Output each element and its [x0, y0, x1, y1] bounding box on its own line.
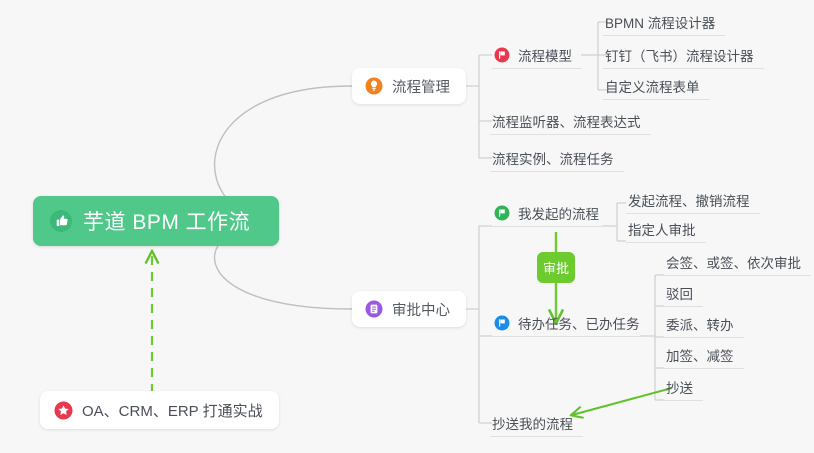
branch-approval-center-label: 审批中心: [392, 299, 450, 320]
node-assignee-approval[interactable]: 指定人审批: [626, 215, 706, 243]
document-circle-icon: [365, 300, 383, 318]
node-cc-label: 抄送: [666, 377, 693, 397]
node-process-instance-task[interactable]: 流程实例、流程任务: [490, 144, 624, 172]
node-process-model[interactable]: 流程模型: [492, 41, 582, 69]
node-countersign-types[interactable]: 会签、或签、依次审批: [664, 248, 811, 276]
node-cc-my-processes-label: 抄送我的流程: [492, 413, 573, 433]
annotation-integration-card[interactable]: OA、CRM、ERP 打通实战: [40, 391, 279, 429]
root-label: 芋道 BPM 工作流: [83, 206, 250, 236]
node-countersign-types-label: 会签、或签、依次审批: [666, 252, 801, 272]
flag-circle-icon: [494, 47, 510, 63]
node-process-model-label: 流程模型: [518, 45, 572, 65]
node-start-cancel-process[interactable]: 发起流程、撤销流程: [626, 186, 760, 214]
root-node[interactable]: 芋道 BPM 工作流: [33, 196, 279, 246]
node-cc-my-processes[interactable]: 抄送我的流程: [490, 409, 583, 437]
node-my-started-processes-label: 我发起的流程: [518, 203, 599, 223]
node-assignee-approval-label: 指定人审批: [628, 219, 696, 239]
node-process-listener-expression-label: 流程监听器、流程表达式: [492, 111, 641, 131]
node-cc[interactable]: 抄送: [664, 373, 703, 401]
node-add-remove-sign[interactable]: 加签、减签: [664, 341, 744, 369]
node-reject-label: 驳回: [666, 283, 693, 303]
annotation-integration-card-label: OA、CRM、ERP 打通实战: [82, 400, 263, 421]
annotation-approval-note: 审批: [537, 252, 575, 283]
node-reject[interactable]: 驳回: [664, 279, 703, 307]
branch-process-management-label: 流程管理: [392, 76, 450, 97]
annotation-approval-note-label: 审批: [543, 258, 569, 277]
node-todo-done-tasks[interactable]: 待办任务、已办任务: [492, 309, 650, 337]
node-start-cancel-process-label: 发起流程、撤销流程: [628, 190, 750, 210]
node-todo-done-tasks-label: 待办任务、已办任务: [518, 313, 640, 333]
node-custom-process-form-label: 自定义流程表单: [605, 76, 700, 96]
node-process-instance-task-label: 流程实例、流程任务: [492, 148, 614, 168]
node-delegate-transfer[interactable]: 委派、转办: [664, 310, 744, 338]
node-dingtalk-feishu-designer-label: 钉钉（飞书）流程设计器: [605, 45, 754, 65]
mindmap-canvas: 芋道 BPM 工作流 流程管理 流程模型 BPMN 流程设计器 钉钉（飞书）流: [0, 0, 814, 453]
node-process-listener-expression[interactable]: 流程监听器、流程表达式: [490, 107, 651, 135]
star-circle-icon: [54, 401, 73, 420]
node-custom-process-form[interactable]: 自定义流程表单: [603, 72, 710, 100]
arrow-cc-to-cc-my-process: [572, 388, 672, 415]
node-bpmn-designer-label: BPMN 流程设计器: [605, 12, 715, 32]
branch-process-management[interactable]: 流程管理: [352, 68, 466, 104]
lightbulb-icon: [365, 77, 383, 95]
branch-approval-center[interactable]: 审批中心: [352, 291, 466, 327]
flag-circle-icon: [494, 315, 510, 331]
flag-circle-icon: [494, 205, 510, 221]
node-bpmn-designer[interactable]: BPMN 流程设计器: [603, 8, 725, 36]
node-add-remove-sign-label: 加签、减签: [666, 345, 734, 365]
node-delegate-transfer-label: 委派、转办: [666, 314, 734, 334]
thumbs-up-icon: [49, 209, 73, 233]
node-dingtalk-feishu-designer[interactable]: 钉钉（飞书）流程设计器: [603, 41, 764, 69]
node-my-started-processes[interactable]: 我发起的流程: [492, 199, 609, 227]
